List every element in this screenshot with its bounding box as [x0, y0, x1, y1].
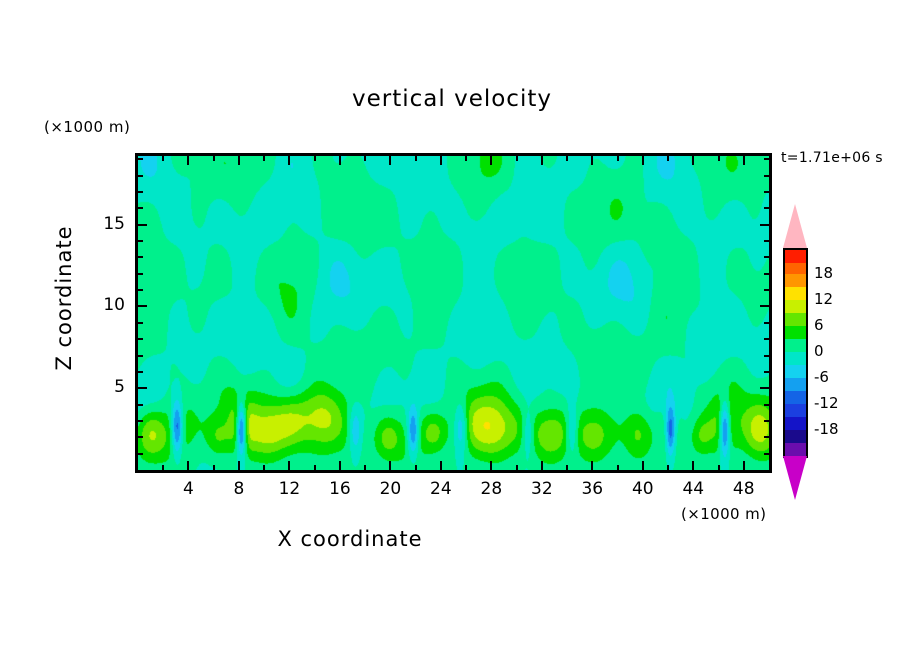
x-tick-label: 28	[468, 479, 514, 499]
colorbar-tick-label: 0	[814, 342, 824, 360]
colorbar: 181260-6-12-18	[778, 196, 812, 526]
x-tick-label: 24	[418, 479, 464, 499]
y-tick-label: 10	[85, 295, 125, 315]
colorbar-band	[783, 404, 808, 417]
colorbar-tick-label: 12	[814, 290, 833, 308]
colorbar-band	[783, 365, 808, 378]
colorbar-over-arrow	[783, 204, 807, 248]
colorbar-tick-label: 18	[814, 264, 833, 282]
colorbar-band	[783, 339, 808, 352]
x-tick-label: 48	[721, 479, 767, 499]
colorbar-band	[783, 326, 808, 339]
x-axis-unit-label: (×1000 m)	[681, 505, 766, 523]
contour-plot-area	[135, 153, 772, 473]
x-tick-label: 20	[367, 479, 413, 499]
x-tick-label: 12	[266, 479, 312, 499]
y-tick-label: 15	[85, 214, 125, 234]
contour-field-canvas	[138, 156, 769, 470]
colorbar-tick-label: -18	[814, 420, 839, 438]
colorbar-under-arrow	[783, 456, 807, 500]
colorbar-band	[783, 274, 808, 287]
y-axis-unit-label: (×1000 m)	[44, 118, 130, 136]
x-tick-label: 8	[216, 479, 262, 499]
colorbar-band	[783, 300, 808, 313]
colorbar-band	[783, 313, 808, 326]
x-tick-label: 32	[519, 479, 565, 499]
colorbar-band	[783, 378, 808, 391]
colorbar-band	[783, 352, 808, 365]
x-tick-label: 36	[569, 479, 615, 499]
x-tick-label: 44	[670, 479, 716, 499]
x-tick-label: 4	[165, 479, 211, 499]
colorbar-tick-label: -12	[814, 394, 839, 412]
colorbar-band	[783, 417, 808, 430]
timestamp-label: t=1.71e+06 s	[781, 150, 883, 166]
y-axis-title: Z coordinate	[52, 198, 76, 398]
x-tick-label: 40	[620, 479, 666, 499]
colorbar-band	[783, 287, 808, 300]
y-tick-label: 5	[85, 377, 125, 397]
colorbar-tick-label: 6	[814, 316, 824, 334]
colorbar-tick-label: -6	[814, 368, 829, 386]
x-tick-label: 16	[317, 479, 363, 499]
colorbar-band	[783, 391, 808, 404]
chart-title: vertical velocity	[0, 86, 904, 112]
colorbar-band	[783, 430, 808, 443]
colorbar-band	[783, 248, 808, 263]
x-axis-title: X coordinate	[0, 527, 700, 551]
